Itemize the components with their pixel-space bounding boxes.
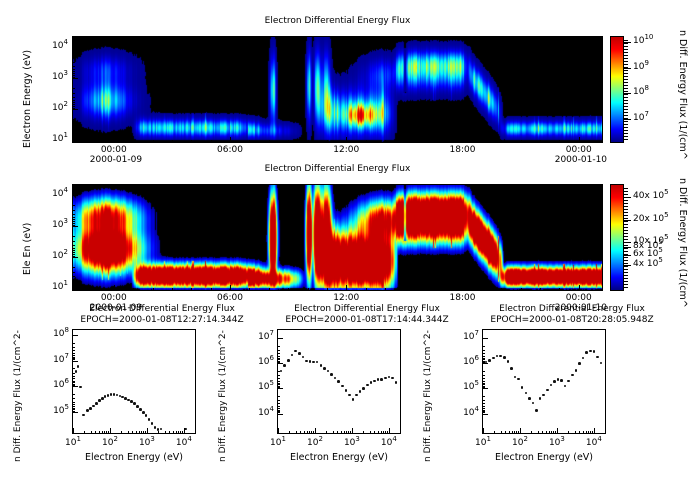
spectrum-2-y-tick-mark <box>277 414 283 415</box>
spectrum-1-y-tick-mark <box>72 412 78 413</box>
x-minor-tick <box>191 140 192 143</box>
x-tick-mark <box>579 137 580 143</box>
colorbar-minor-tick <box>624 239 628 240</box>
x-minor-tick <box>153 288 154 291</box>
x-minor-tick <box>540 140 541 143</box>
spectrum-1-y-minor-tick <box>72 353 75 354</box>
spectrum-1-x-minor-tick <box>143 431 144 434</box>
colorbar-minor-tick <box>624 127 628 128</box>
spectrum-3-x-minor-tick <box>592 431 593 434</box>
spectrum-3-x-tick-mark <box>557 428 558 434</box>
panel2-colorbar <box>610 184 624 291</box>
colorbar-minor-tick <box>624 109 628 110</box>
spectrum-2-y-tick-mark <box>277 388 283 389</box>
spectrum-3-title: Electron Differential Energy Flux <box>465 304 679 314</box>
x-minor-tick <box>385 140 386 143</box>
data-point <box>585 351 588 354</box>
spectrum-1-x-minor-tick <box>195 431 196 434</box>
colorbar-minor-tick <box>624 103 628 104</box>
colorbar-tick-mark <box>624 119 631 120</box>
colorbar-minor-tick <box>624 115 628 116</box>
spectrum-3-x-tick-label: 103 <box>544 438 570 448</box>
colorbar-minor-tick <box>624 58 628 59</box>
spectrum-2-x-minor-tick <box>304 431 305 434</box>
y-minor-tick <box>72 62 75 63</box>
colorbar-minor-tick <box>624 218 628 219</box>
spectrum-3-x-minor-tick <box>590 431 591 434</box>
spectrum-1-y-minor-tick <box>72 343 75 344</box>
colorbar-minor-tick <box>624 82 628 83</box>
data-point <box>75 370 78 373</box>
x-minor-tick <box>521 288 522 291</box>
data-point <box>380 378 383 381</box>
x-minor-tick <box>269 140 270 143</box>
y-minor-tick <box>72 276 75 277</box>
data-point <box>287 359 290 362</box>
colorbar-minor-tick <box>624 136 628 137</box>
spectrum-3-x-minor-tick <box>568 431 569 434</box>
spectrum-1-y-minor-tick <box>72 398 75 399</box>
spectrum-3-x-minor-tick <box>549 431 550 434</box>
spectrum-2-x-minor-tick <box>296 431 297 434</box>
y-minor-tick <box>72 77 75 78</box>
spectrum-3-x-minor-tick <box>531 431 532 434</box>
spectrum-1-x-tick-mark <box>147 428 148 434</box>
spectrum-1-x-minor-tick <box>173 431 174 434</box>
data-point <box>362 387 365 390</box>
spectrum-1-x-minor-tick <box>84 431 85 434</box>
y-tick-label: 104 <box>52 189 68 199</box>
x-tick-mark <box>462 137 463 143</box>
spectrum-2-y-minor-tick <box>277 406 280 407</box>
panel2-y-tickmarks <box>72 184 79 291</box>
spectrum-1-x-minor-tick <box>139 431 140 434</box>
colorbar-minor-tick <box>624 112 628 113</box>
colorbar-minor-tick <box>624 52 628 53</box>
spectrum-3-y-minor-tick <box>482 346 485 347</box>
data-point <box>546 389 549 392</box>
y-minor-tick <box>72 236 75 237</box>
x-tick-label: 00:00 <box>565 145 593 155</box>
spectrum-3-x-minor-tick <box>514 431 515 434</box>
y-minor-tick <box>72 128 75 129</box>
spectrum-3-ylabel: n Diff. Energy Flux (1/(cm^2- <box>423 330 433 462</box>
y-minor-tick <box>72 88 75 89</box>
spectrum-1-x-tick-label: 103 <box>134 438 160 448</box>
panel2-y-axis: 104103102101 <box>36 184 72 291</box>
spectrum-1-x-tick-mark <box>110 428 111 434</box>
colorbar-minor-tick <box>624 230 628 231</box>
spectrum-3-y-minor-tick <box>482 378 485 379</box>
x-minor-tick <box>211 288 212 291</box>
x-minor-tick <box>133 140 134 143</box>
y-minor-tick <box>72 219 75 220</box>
data-point <box>82 414 85 417</box>
x-minor-tick <box>501 140 502 143</box>
y-minor-tick <box>72 97 75 98</box>
y-minor-tick <box>72 250 75 251</box>
x-tick-mark <box>579 285 580 291</box>
spectrum-2-y-tick-mark <box>277 363 283 364</box>
x-minor-tick <box>521 140 522 143</box>
spectrum-1-y-minor-tick <box>72 347 75 348</box>
spectrum-3-x-tick-mark <box>520 428 521 434</box>
spectrum-3-x-tick-mark <box>594 428 595 434</box>
colorbar-minor-tick <box>624 284 628 285</box>
data-point <box>492 357 495 360</box>
data-point <box>488 359 491 362</box>
spectrum-1-x-minor-tick <box>145 431 146 434</box>
spectrum-2-x-minor-tick <box>289 431 290 434</box>
y-minor-tick <box>72 124 75 125</box>
spectrum-2-y-minor-tick <box>277 412 280 413</box>
x-minor-tick <box>308 140 309 143</box>
spectrum-2-y-minor-tick <box>277 378 280 379</box>
data-point <box>139 408 142 411</box>
colorbar-minor-tick <box>624 275 628 276</box>
colorbar-minor-tick <box>624 194 628 195</box>
x-minor-tick <box>424 140 425 143</box>
spectrum-1-x-minor-tick <box>121 431 122 434</box>
colorbar-minor-tick <box>624 254 628 255</box>
spectrum-3-y-minor-tick <box>482 353 485 354</box>
x-minor-tick <box>366 288 367 291</box>
spectrum-1-y-minor-tick <box>72 385 75 386</box>
spectrum-1-x-minor-tick <box>99 431 100 434</box>
spectrum-2-x-minor-tick <box>300 431 301 434</box>
spectrum-2-x-minor-tick <box>374 431 375 434</box>
data-point <box>596 356 599 359</box>
spectrum-1-x-minor-tick <box>108 431 109 434</box>
x-minor-tick <box>366 140 367 143</box>
colorbar-minor-tick <box>624 79 628 80</box>
colorbar-minor-tick <box>624 233 628 234</box>
colorbar-minor-tick <box>624 97 628 98</box>
y-minor-tick <box>72 245 75 246</box>
x-tick-label: 06:00 <box>216 145 244 155</box>
colorbar-minor-tick <box>624 100 628 101</box>
spectrum-2-x-minor-tick <box>370 431 371 434</box>
y-minor-tick <box>72 108 75 109</box>
colorbar-minor-tick <box>624 55 628 56</box>
spectrum-1-ylabel: n Diff. Energy Flux (1/(cm^2- <box>13 330 23 462</box>
x-minor-tick <box>172 288 173 291</box>
spectrum-1-x-minor-tick <box>158 431 159 434</box>
data-point <box>348 394 351 397</box>
spectrum-2-y-minor-tick <box>277 371 280 372</box>
colorbar-minor-tick <box>624 76 628 77</box>
spectrum-1-title: Electron Differential Energy Flux <box>55 304 269 314</box>
colorbar-minor-tick <box>624 133 628 134</box>
y-minor-tick <box>72 131 75 132</box>
spectrum-2-x-minor-tick <box>326 431 327 434</box>
colorbar-tick-label: 20x 105 <box>633 214 669 224</box>
colorbar-minor-tick <box>624 257 628 258</box>
colorbar-minor-tick <box>624 61 628 62</box>
spectrum-3-x-minor-tick <box>542 431 543 434</box>
colorbar-minor-tick <box>624 236 628 237</box>
spectrum-2-xlabel: Electron Energy (eV) <box>277 452 401 463</box>
spectrum-1-y-tick-label: 105 <box>42 406 69 416</box>
spectrum-1-y-tick-mark <box>72 361 78 362</box>
spectrum-1-x-minor-tick <box>128 431 129 434</box>
data-point <box>578 362 581 365</box>
y-tick-mark <box>72 195 78 196</box>
spectrum-3-y-minor-tick <box>482 406 485 407</box>
spectrum-2-x-minor-tick <box>400 431 401 434</box>
panel2-x-tickmarks <box>72 284 603 291</box>
x-minor-tick <box>249 288 250 291</box>
data-point <box>528 397 531 400</box>
panel2-colorbar-ticks: 40x 10520x 10510x 1058x 1056x 1054x 105 <box>624 184 668 291</box>
x-minor-tick <box>404 288 405 291</box>
y-minor-tick <box>72 279 75 280</box>
panel1-colorbar <box>610 36 624 143</box>
spectrum-3-y-minor-tick <box>482 375 485 376</box>
y-tick-mark <box>72 109 78 110</box>
data-point <box>507 360 510 363</box>
y-minor-tick <box>72 214 75 215</box>
spectrum-1-x-minor-tick <box>180 431 181 434</box>
spectrum-2-title: Electron Differential Energy Flux <box>260 304 474 314</box>
spectrum-3-y-minor-tick <box>482 362 485 363</box>
panel1-colorbar-ticks: 1010109108107 <box>624 36 658 143</box>
spectrum-2-x-tick-mark <box>352 428 353 434</box>
spectrum-2-y-minor-tick <box>277 396 280 397</box>
x-minor-tick <box>133 288 134 291</box>
y-minor-tick <box>72 205 75 206</box>
spectrum-1-plot-area[interactable] <box>72 329 196 434</box>
colorbar-minor-tick <box>624 70 628 71</box>
panel1-ylabel: Electron Energy (eV) <box>22 50 33 148</box>
spectrum-3-y-minor-tick <box>482 350 485 351</box>
spectrum-3-x-minor-tick <box>516 431 517 434</box>
spectrum-2-x-minor-tick <box>344 431 345 434</box>
x-minor-tick <box>540 288 541 291</box>
colorbar-minor-tick <box>624 272 628 273</box>
y-minor-tick <box>72 69 75 70</box>
colorbar-tick-mark <box>624 255 631 256</box>
spectrum-2-y-tick-label: 105 <box>247 382 274 392</box>
panel1-colorbar-label: n Diff. Energy Flux (1/(cm^ <box>677 30 688 160</box>
y-minor-tick <box>72 225 75 226</box>
data-point <box>283 364 286 367</box>
colorbar-minor-tick <box>624 40 628 41</box>
spectrum-1-y-minor-tick <box>72 350 75 351</box>
spectrum-2-y-minor-tick <box>277 387 280 388</box>
spectrum-3-x-tick-label: 102 <box>507 438 533 448</box>
y-minor-tick <box>72 256 75 257</box>
data-point <box>391 377 394 380</box>
spectrum-3-y-tick-mark <box>482 414 488 415</box>
spectrum-1-x-minor-tick <box>176 431 177 434</box>
colorbar-tick-label: 40x 105 <box>633 191 669 201</box>
y-minor-tick <box>72 272 75 273</box>
spectrum-3-y-minor-tick <box>482 403 485 404</box>
data-point <box>503 356 506 359</box>
y-minor-tick <box>72 133 75 134</box>
spectrum-2-y-tick-label: 104 <box>247 408 274 418</box>
spectrum-2-x-minor-tick <box>307 431 308 434</box>
spectrum-2-y-tick-mark <box>277 338 283 339</box>
spectrum-2-x-minor-tick <box>383 431 384 434</box>
colorbar-minor-tick <box>624 188 628 189</box>
spectrum-3-y-tick-label: 106 <box>452 357 479 367</box>
colorbar-minor-tick <box>624 139 628 140</box>
spectrum-2-y-tick-label: 106 <box>247 357 274 367</box>
x-tick-label: 00:00 <box>100 145 128 155</box>
data-point <box>113 393 116 396</box>
y-tick-mark <box>72 257 78 258</box>
spectrum-2-y-minor-tick <box>277 362 280 363</box>
colorbar-minor-tick <box>624 245 628 246</box>
colorbar-minor-tick <box>624 91 628 92</box>
panel1-y-axis: 104103102101 <box>36 36 72 143</box>
spectrum-3-x-minor-tick <box>505 431 506 434</box>
spectrum-1-y-tick-label: 108 <box>42 329 69 339</box>
spectrum-1-xlabel: Electron Energy (eV) <box>72 452 196 463</box>
spectrum-1-y-minor-tick <box>72 394 75 395</box>
spectrum-2-x-tick-label: 103 <box>339 438 365 448</box>
spectrum-2-y-tick-label: 107 <box>247 332 274 342</box>
spectrum-1-y-minor-tick <box>72 376 75 377</box>
spectrum-2-y-minor-tick <box>277 403 280 404</box>
spectrum-3-x-minor-tick <box>553 431 554 434</box>
colorbar-minor-tick <box>624 94 628 95</box>
colorbar-tick-label: 108 <box>633 87 649 97</box>
spectrum-2-x-minor-tick <box>313 431 314 434</box>
data-point <box>384 377 387 380</box>
spectrum-3-x-minor-tick <box>579 431 580 434</box>
spectrum-1-x-tick-label: 102 <box>97 438 123 448</box>
spectrum-1-x-minor-tick <box>132 431 133 434</box>
colorbar-tick-label: 4x 105 <box>633 259 663 269</box>
data-point <box>101 397 104 400</box>
x-minor-tick <box>269 288 270 291</box>
colorbar-minor-tick <box>624 197 628 198</box>
colorbar-minor-tick <box>624 260 628 261</box>
spectrum-3-x-minor-tick <box>588 431 589 434</box>
x-tick-mark <box>462 285 463 291</box>
spectrum-2-x-tick-label: 101 <box>265 438 291 448</box>
panel2-colorbar-label: n Diff. Energy Flux (1/(cm^ <box>677 178 688 308</box>
spectrum-1-x-tick-label: 104 <box>171 438 197 448</box>
y-minor-tick <box>72 241 75 242</box>
panel2-plot-area[interactable] <box>72 184 603 291</box>
x-tick-mark <box>230 285 231 291</box>
y-tick-label: 104 <box>52 41 68 51</box>
x-tick-label: 12:00 <box>332 145 360 155</box>
y-minor-tick <box>72 102 75 103</box>
colorbar-minor-tick <box>624 263 628 264</box>
colorbar-tick-label: 107 <box>633 113 649 123</box>
data-point <box>77 365 80 368</box>
spectrum-3-plot-area[interactable] <box>482 329 606 434</box>
spectrum-1-x-tick-mark <box>73 428 74 434</box>
spectrum-2-y-minor-tick <box>277 350 280 351</box>
colorbar-minor-tick <box>624 85 628 86</box>
y-tick-label: 101 <box>52 282 68 292</box>
spectrum-2-x-tick-mark <box>389 428 390 434</box>
data-point <box>571 374 574 377</box>
y-tick-mark <box>72 226 78 227</box>
y-tick-mark <box>72 78 78 79</box>
colorbar-minor-tick <box>624 206 628 207</box>
spectrum-1-x-minor-tick <box>182 431 183 434</box>
spectrum-2-x-minor-tick <box>350 431 351 434</box>
data-point <box>320 364 323 367</box>
spectrum-3-y-minor-tick <box>482 381 485 382</box>
spectrum-1-x-tick-mark <box>184 428 185 434</box>
panel2-ylabel: Ele En (eV) <box>22 223 33 275</box>
x-minor-tick <box>172 140 173 143</box>
colorbar-tick-label: 109 <box>633 62 649 72</box>
x-minor-tick <box>482 288 483 291</box>
x-minor-tick <box>482 140 483 143</box>
x-minor-tick <box>327 140 328 143</box>
spectrum-2-y-minor-tick <box>277 381 280 382</box>
spectrum-2-x-tick-label: 102 <box>302 438 328 448</box>
panel2-title: Electron Differential Energy Flux <box>72 164 603 174</box>
data-point <box>142 411 145 414</box>
panel1-title: Electron Differential Energy Flux <box>72 16 603 26</box>
colorbar-minor-tick <box>624 118 628 119</box>
spectrum-1-x-minor-tick <box>141 431 142 434</box>
spectrum-1-x-minor-tick <box>106 431 107 434</box>
colorbar-minor-tick <box>624 251 628 252</box>
y-minor-tick <box>72 210 75 211</box>
spectrum-3-x-minor-tick <box>605 431 606 434</box>
colorbar-minor-tick <box>624 281 628 282</box>
y-tick-label: 103 <box>52 72 68 82</box>
x-minor-tick <box>191 288 192 291</box>
y-minor-tick <box>72 66 75 67</box>
spectrum-3-x-minor-tick <box>494 431 495 434</box>
spectrum-2-x-minor-tick <box>341 431 342 434</box>
spectrum-3-y-minor-tick <box>482 387 485 388</box>
spectrum-2-y-minor-tick <box>277 356 280 357</box>
spectrum-3-x-minor-tick <box>583 431 584 434</box>
spectrum-3-x-minor-tick <box>518 431 519 434</box>
spectrum-1-x-minor-tick <box>91 431 92 434</box>
x-tick-mark <box>346 137 347 143</box>
data-point <box>370 381 373 384</box>
spectrum-1-x-minor-tick <box>169 431 170 434</box>
x-minor-tick <box>424 288 425 291</box>
colorbar-minor-tick <box>624 64 628 65</box>
data-point <box>136 405 139 408</box>
colorbar-minor-tick <box>624 278 628 279</box>
spectrum-1-y-minor-tick <box>72 373 75 374</box>
colorbar-minor-tick <box>624 203 628 204</box>
colorbar-minor-tick <box>624 88 628 89</box>
colorbar-minor-tick <box>624 124 628 125</box>
y-tick-label: 103 <box>52 220 68 230</box>
data-point <box>575 369 578 372</box>
spectrum-3-x-minor-tick <box>509 431 510 434</box>
y-minor-tick <box>72 71 75 72</box>
panel1-plot-area[interactable] <box>72 36 603 143</box>
spectrum-2-x-tick-mark <box>278 428 279 434</box>
spectrum-1-x-minor-tick <box>165 431 166 434</box>
spectrum-2-y-minor-tick <box>277 353 280 354</box>
spectrum-2-x-minor-tick <box>385 431 386 434</box>
data-point <box>89 407 92 410</box>
spectrum-2-y-minor-tick <box>277 375 280 376</box>
data-point <box>560 379 563 382</box>
spectrum-1-y-minor-tick <box>72 404 75 405</box>
data-point <box>535 409 538 412</box>
